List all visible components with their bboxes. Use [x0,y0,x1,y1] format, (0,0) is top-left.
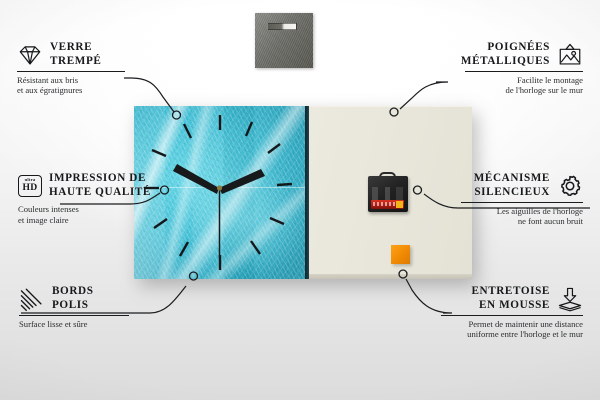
feature-divider [441,315,583,316]
diamond-icon [17,42,43,68]
feature-subtitle: Surface lisse et sûre [19,319,129,330]
mechanism-body [368,176,408,212]
feature-divider [17,71,125,72]
ultra-hd-icon: ultra HD [18,175,42,197]
feature-title-line1: ENTRETOISE [471,285,550,299]
feature-title: MÉCANISME SILENCIEUX [474,172,550,199]
infographic-canvas: VERRE TREMPÉ Résistant aux bris et aux é… [0,0,600,400]
feature-subtitle: Résistant aux bris et aux égratignures [17,75,125,96]
feature-header: VERRE TREMPÉ [17,41,125,68]
hanger-slot [267,23,297,30]
feature-sub-line2: ne font aucun bruit [461,216,583,227]
feature-subtitle: Facilite le montage de l'horloge sur le … [465,75,583,96]
feature-mecanisme-silencieux: MÉCANISME SILENCIEUX Les aiguilles de l'… [461,172,583,227]
feature-sub-line1: Permet de maintenir une distance [441,319,583,330]
feature-title-line1: MÉCANISME [474,172,550,186]
feature-verre-trempe: VERRE TREMPÉ Résistant aux bris et aux é… [17,41,125,96]
hour-markers [144,115,292,270]
aa-battery [371,200,404,209]
feature-sub-line1: Facilite le montage [465,75,583,86]
feature-sub-line2: uniforme entre l'horloge et le mur [441,329,583,340]
center-cap [217,185,222,190]
feature-title-line1: VERRE [50,41,101,55]
feature-title-line2: SILENCIEUX [474,186,550,200]
feature-header: ultra HD IMPRESSION DE HAUTE QUALITÉ [18,172,130,199]
feature-sub-line1: Les aiguilles de l'horloge [461,206,583,217]
metal-hanger-plate [255,13,313,68]
feature-title-line2: MÉTALLIQUES [461,55,550,69]
ultra-hd-icon-main-label: HD [23,183,38,193]
feature-title-line1: IMPRESSION DE [49,172,151,186]
gear-icon [557,173,583,199]
clock-dial [134,106,306,279]
feature-divider [461,202,583,203]
feature-header: ENTRETOISE EN MOUSSE [441,285,583,312]
feature-sub-line1: Résistant aux bris [17,75,125,86]
feature-title-line2: EN MOUSSE [471,299,550,313]
product-photo [134,106,472,279]
feature-sub-line1: Surface lisse et sûre [19,319,129,330]
picture-frame-hanger-icon [557,42,583,68]
feature-sub-line2: de l'horloge sur le mur [465,85,583,96]
feature-header: BORDS POLIS [19,285,129,312]
minute-hand [173,164,219,194]
foam-spacer [391,245,410,264]
mechanism-detail [372,187,403,200]
feature-subtitle: Couleurs intenses et image claire [18,204,130,225]
feature-title: POIGNÉES MÉTALLIQUES [461,41,550,68]
feature-title: IMPRESSION DE HAUTE QUALITÉ [49,172,151,199]
feature-bords-polis: BORDS POLIS Surface lisse et sûre [19,285,129,329]
feature-poignees-metalliques: POIGNÉES MÉTALLIQUES Facilite le montage… [465,41,583,96]
feature-sub-line2: et image claire [18,215,130,226]
feature-subtitle: Les aiguilles de l'horloge ne font aucun… [461,206,583,227]
feature-title: VERRE TREMPÉ [50,41,101,68]
feature-title: BORDS POLIS [52,285,94,312]
hour-hand [219,169,265,194]
feature-sub-line2: et aux égratignures [17,85,125,96]
feature-title-line2: POLIS [52,299,94,313]
feature-entretoise-en-mousse: ENTRETOISE EN MOUSSE Permet de maintenir… [441,285,583,340]
feature-impression-haute-qualite: ultra HD IMPRESSION DE HAUTE QUALITÉ Cou… [18,172,130,225]
feature-title: ENTRETOISE EN MOUSSE [471,285,550,312]
feature-header: MÉCANISME SILENCIEUX [461,172,583,199]
foam-spacer-icon [557,286,583,312]
polished-edges-icon [19,286,45,312]
feature-sub-line1: Couleurs intenses [18,204,130,215]
battery-label [373,202,395,206]
feature-divider [19,315,129,316]
feature-title-line1: POIGNÉES [461,41,550,55]
feature-title-line2: TREMPÉ [50,55,101,69]
feature-title-line2: HAUTE QUALITÉ [49,186,151,200]
feature-header: POIGNÉES MÉTALLIQUES [465,41,583,68]
feature-title-line1: BORDS [52,285,94,299]
connector-poignees [400,82,448,109]
clock-mechanism [368,172,408,212]
feature-subtitle: Permet de maintenir une distance uniform… [441,319,583,340]
feature-divider [465,71,583,72]
clock-back-panel-bottom-edge [309,274,472,279]
